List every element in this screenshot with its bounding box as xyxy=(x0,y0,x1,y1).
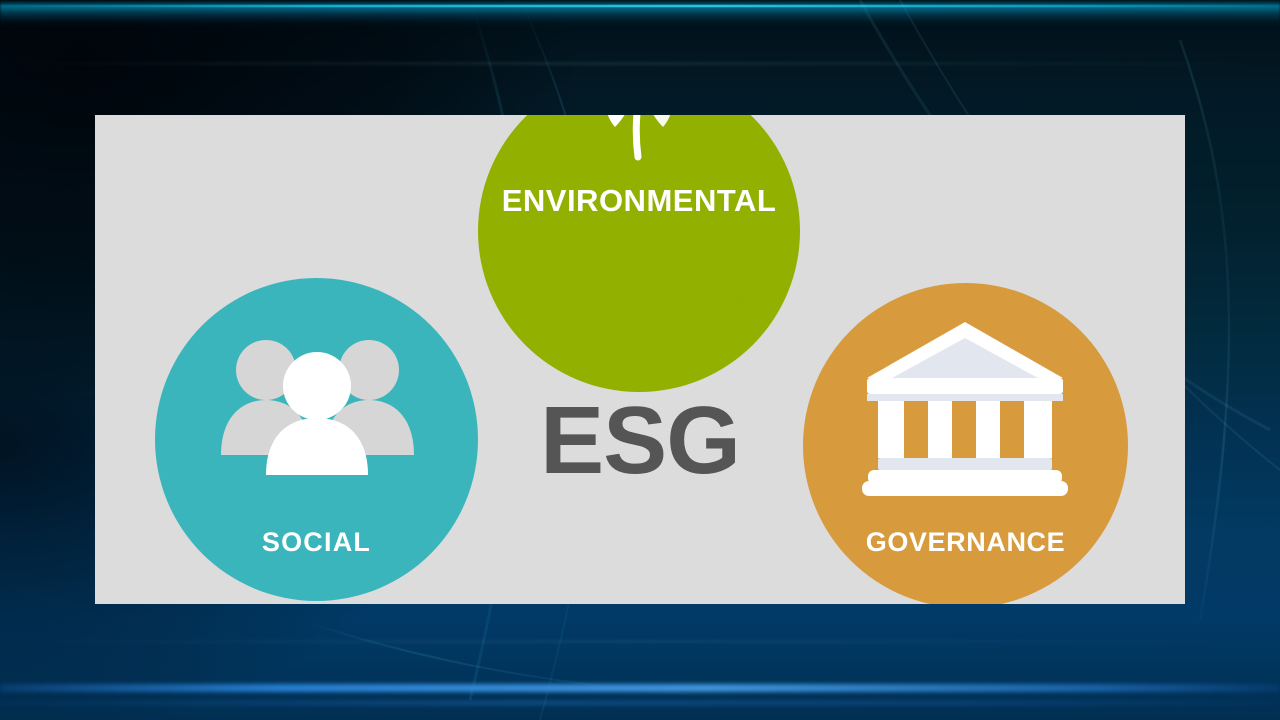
people-group-icon xyxy=(215,330,420,475)
background-streak xyxy=(0,62,1280,65)
environmental-label: ENVIRONMENTAL xyxy=(478,183,800,219)
background-lower-light-bar-secondary xyxy=(0,701,1280,705)
content-panel: ENVIRONMENTAL MEIO AMBIENTE SOCIAL xyxy=(95,115,1185,604)
governance-label: GOVERNANCE xyxy=(803,527,1128,558)
social-label: SOCIAL xyxy=(155,527,478,558)
esg-infographic-slide: ENVIRONMENTAL MEIO AMBIENTE SOCIAL xyxy=(0,0,1280,720)
environmental-sublabel: MEIO AMBIENTE xyxy=(478,285,800,317)
esg-wordmark: ESG xyxy=(500,393,780,489)
background-top-light-line xyxy=(0,5,1280,7)
background-streak xyxy=(0,640,1280,643)
classical-building-icon xyxy=(860,320,1070,505)
background-lower-light-bar xyxy=(0,684,1280,692)
